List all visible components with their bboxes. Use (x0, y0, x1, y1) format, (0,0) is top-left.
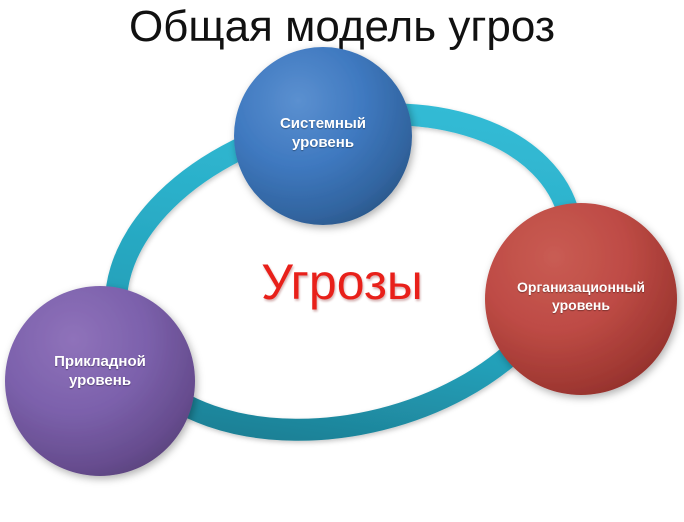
slide-canvas: Общая модель угроз (0, 0, 684, 522)
threat-model-diagram: Системный уровень Организационный уровен… (0, 0, 684, 522)
node-system-level[interactable] (234, 47, 412, 225)
diagram-center-label: Угрозы (142, 252, 542, 312)
node-applied-level[interactable] (5, 286, 195, 476)
